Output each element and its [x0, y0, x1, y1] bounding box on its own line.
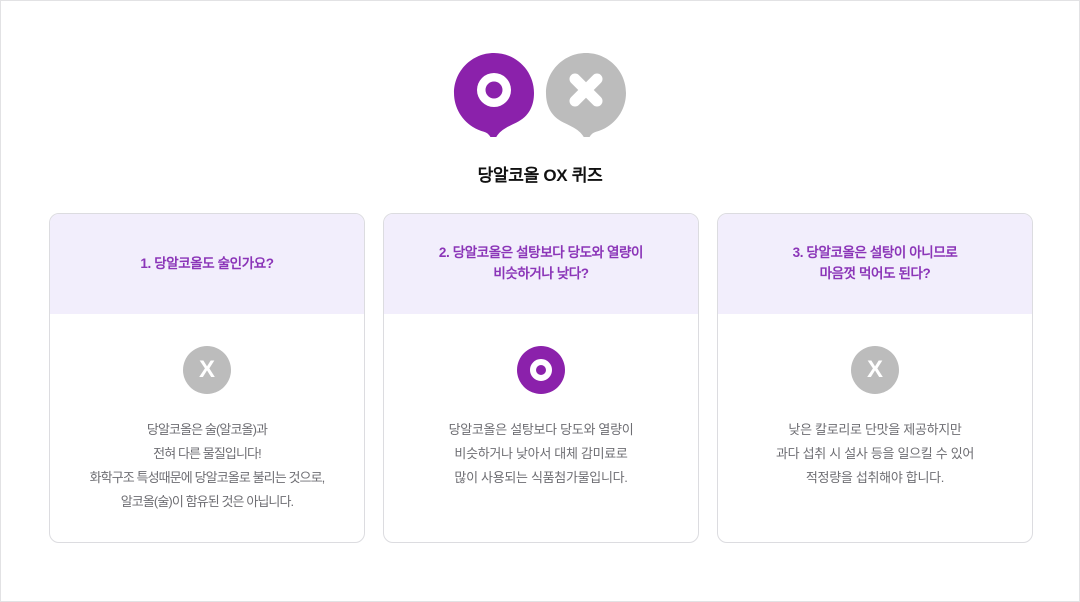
- logo-group: [450, 49, 630, 149]
- x-mark-icon: X: [183, 346, 231, 394]
- quiz-card-2[interactable]: 2. 당알코올은 설탕보다 당도와 열량이 비슷하거나 낮다? 당알코올은 설탕…: [383, 213, 699, 543]
- quiz-card-3-answer: 낮은 칼로리로 단맛을 제공하지만 과다 섭취 시 설사 등을 일으킬 수 있어…: [766, 418, 984, 490]
- quiz-card-2-answer: 당알코올은 설탕보다 당도와 열량이 비슷하거나 낮아서 대체 감미료로 많이 …: [439, 418, 644, 490]
- quiz-card-3[interactable]: 3. 당알코올은 설탕이 아니므로 마음껏 먹어도 된다? X 낮은 칼로리로 …: [717, 213, 1033, 543]
- page-header: 당알코올 OX 퀴즈: [1, 1, 1079, 184]
- quiz-page: 당알코올 OX 퀴즈 1. 당알코올도 술인가요? X 당알코올은 술(알코올)…: [0, 0, 1080, 602]
- quiz-card-3-question: 3. 당알코올은 설탕이 아니므로 마음껏 먹어도 된다?: [793, 243, 958, 285]
- quiz-card-2-body: 당알코올은 설탕보다 당도와 열량이 비슷하거나 낮아서 대체 감미료로 많이 …: [384, 314, 698, 542]
- quiz-card-1-header: 1. 당알코올도 술인가요?: [50, 214, 364, 314]
- page-title: 당알코올 OX 퀴즈: [478, 167, 603, 184]
- quiz-card-1[interactable]: 1. 당알코올도 술인가요? X 당알코올은 술(알코올)과 전혀 다른 물질입…: [49, 213, 365, 543]
- quiz-card-1-question: 1. 당알코올도 술인가요?: [140, 254, 273, 275]
- x-bubble-logo: [542, 49, 630, 137]
- quiz-card-3-body: X 낮은 칼로리로 단맛을 제공하지만 과다 섭취 시 설사 등을 일으킬 수 …: [718, 314, 1032, 542]
- x-mark-glyph: X: [867, 358, 883, 382]
- quiz-card-2-header: 2. 당알코올은 설탕보다 당도와 열량이 비슷하거나 낮다?: [384, 214, 698, 314]
- quiz-card-list: 1. 당알코올도 술인가요? X 당알코올은 술(알코올)과 전혀 다른 물질입…: [49, 213, 1033, 543]
- o-bubble-logo: [450, 49, 538, 137]
- quiz-card-2-question: 2. 당알코올은 설탕보다 당도와 열량이 비슷하거나 낮다?: [439, 243, 643, 285]
- quiz-card-1-answer: 당알코올은 술(알코올)과 전혀 다른 물질입니다! 화학구조 특성때문에 당알…: [88, 418, 327, 514]
- x-mark-icon: X: [851, 346, 899, 394]
- o-mark-icon: [517, 346, 565, 394]
- o-mark-glyph: [530, 359, 552, 381]
- quiz-card-1-body: X 당알코올은 술(알코올)과 전혀 다른 물질입니다! 화학구조 특성때문에 …: [50, 314, 364, 542]
- quiz-card-3-header: 3. 당알코올은 설탕이 아니므로 마음껏 먹어도 된다?: [718, 214, 1032, 314]
- x-mark-glyph: X: [199, 358, 215, 382]
